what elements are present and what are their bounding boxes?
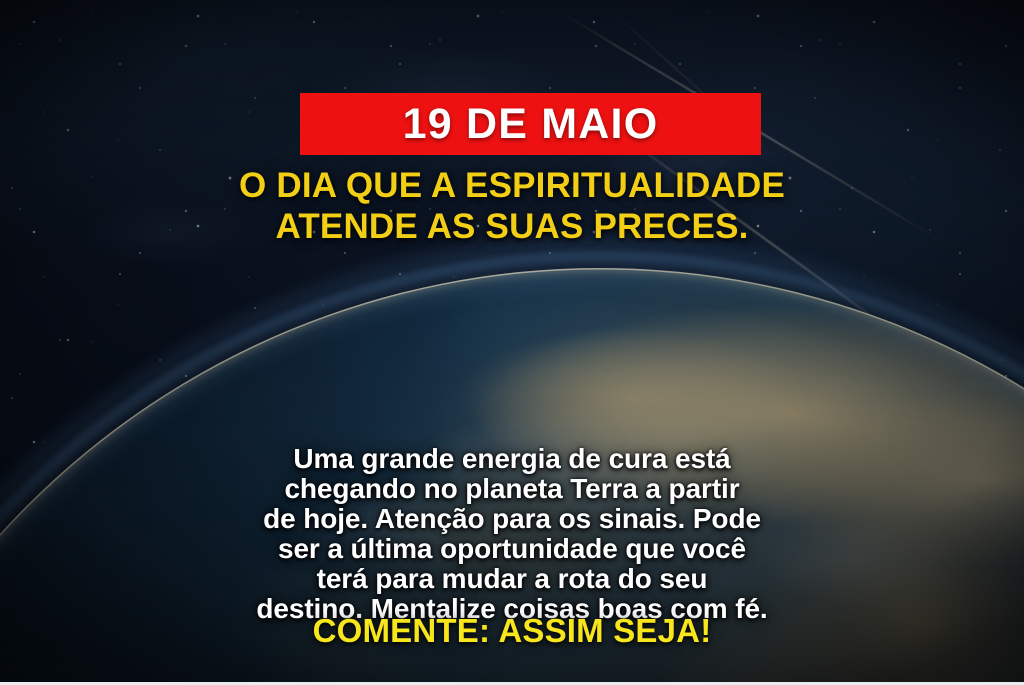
body-line-3: de hoje. Atenção para os sinais. Pode <box>48 504 976 534</box>
headline: O DIA QUE A ESPIRITUALIDADE ATENDE AS SU… <box>0 166 1024 247</box>
call-to-action-text: COMENTE: ASSIM SEJA! <box>0 613 1024 649</box>
headline-line-1: O DIA QUE A ESPIRITUALIDADE <box>0 166 1024 207</box>
body-line-1: Uma grande energia de cura está <box>48 444 976 474</box>
body-line-4: ser a última oportunidade que você <box>48 534 976 564</box>
content-layer: 19 DE MAIO O DIA QUE A ESPIRITUALIDADE A… <box>0 0 1024 685</box>
body-line-2: chegando no planeta Terra a partir <box>48 474 976 504</box>
body-paragraph: Uma grande energia de cura está chegando… <box>0 444 1024 624</box>
body-line-5: terá para mudar a rota do seu <box>48 564 976 594</box>
date-banner: 19 DE MAIO <box>300 93 761 155</box>
poster-canvas: 19 DE MAIO O DIA QUE A ESPIRITUALIDADE A… <box>0 0 1024 685</box>
headline-line-2: ATENDE AS SUAS PRECES. <box>0 207 1024 248</box>
date-banner-label: 19 DE MAIO <box>403 103 659 146</box>
